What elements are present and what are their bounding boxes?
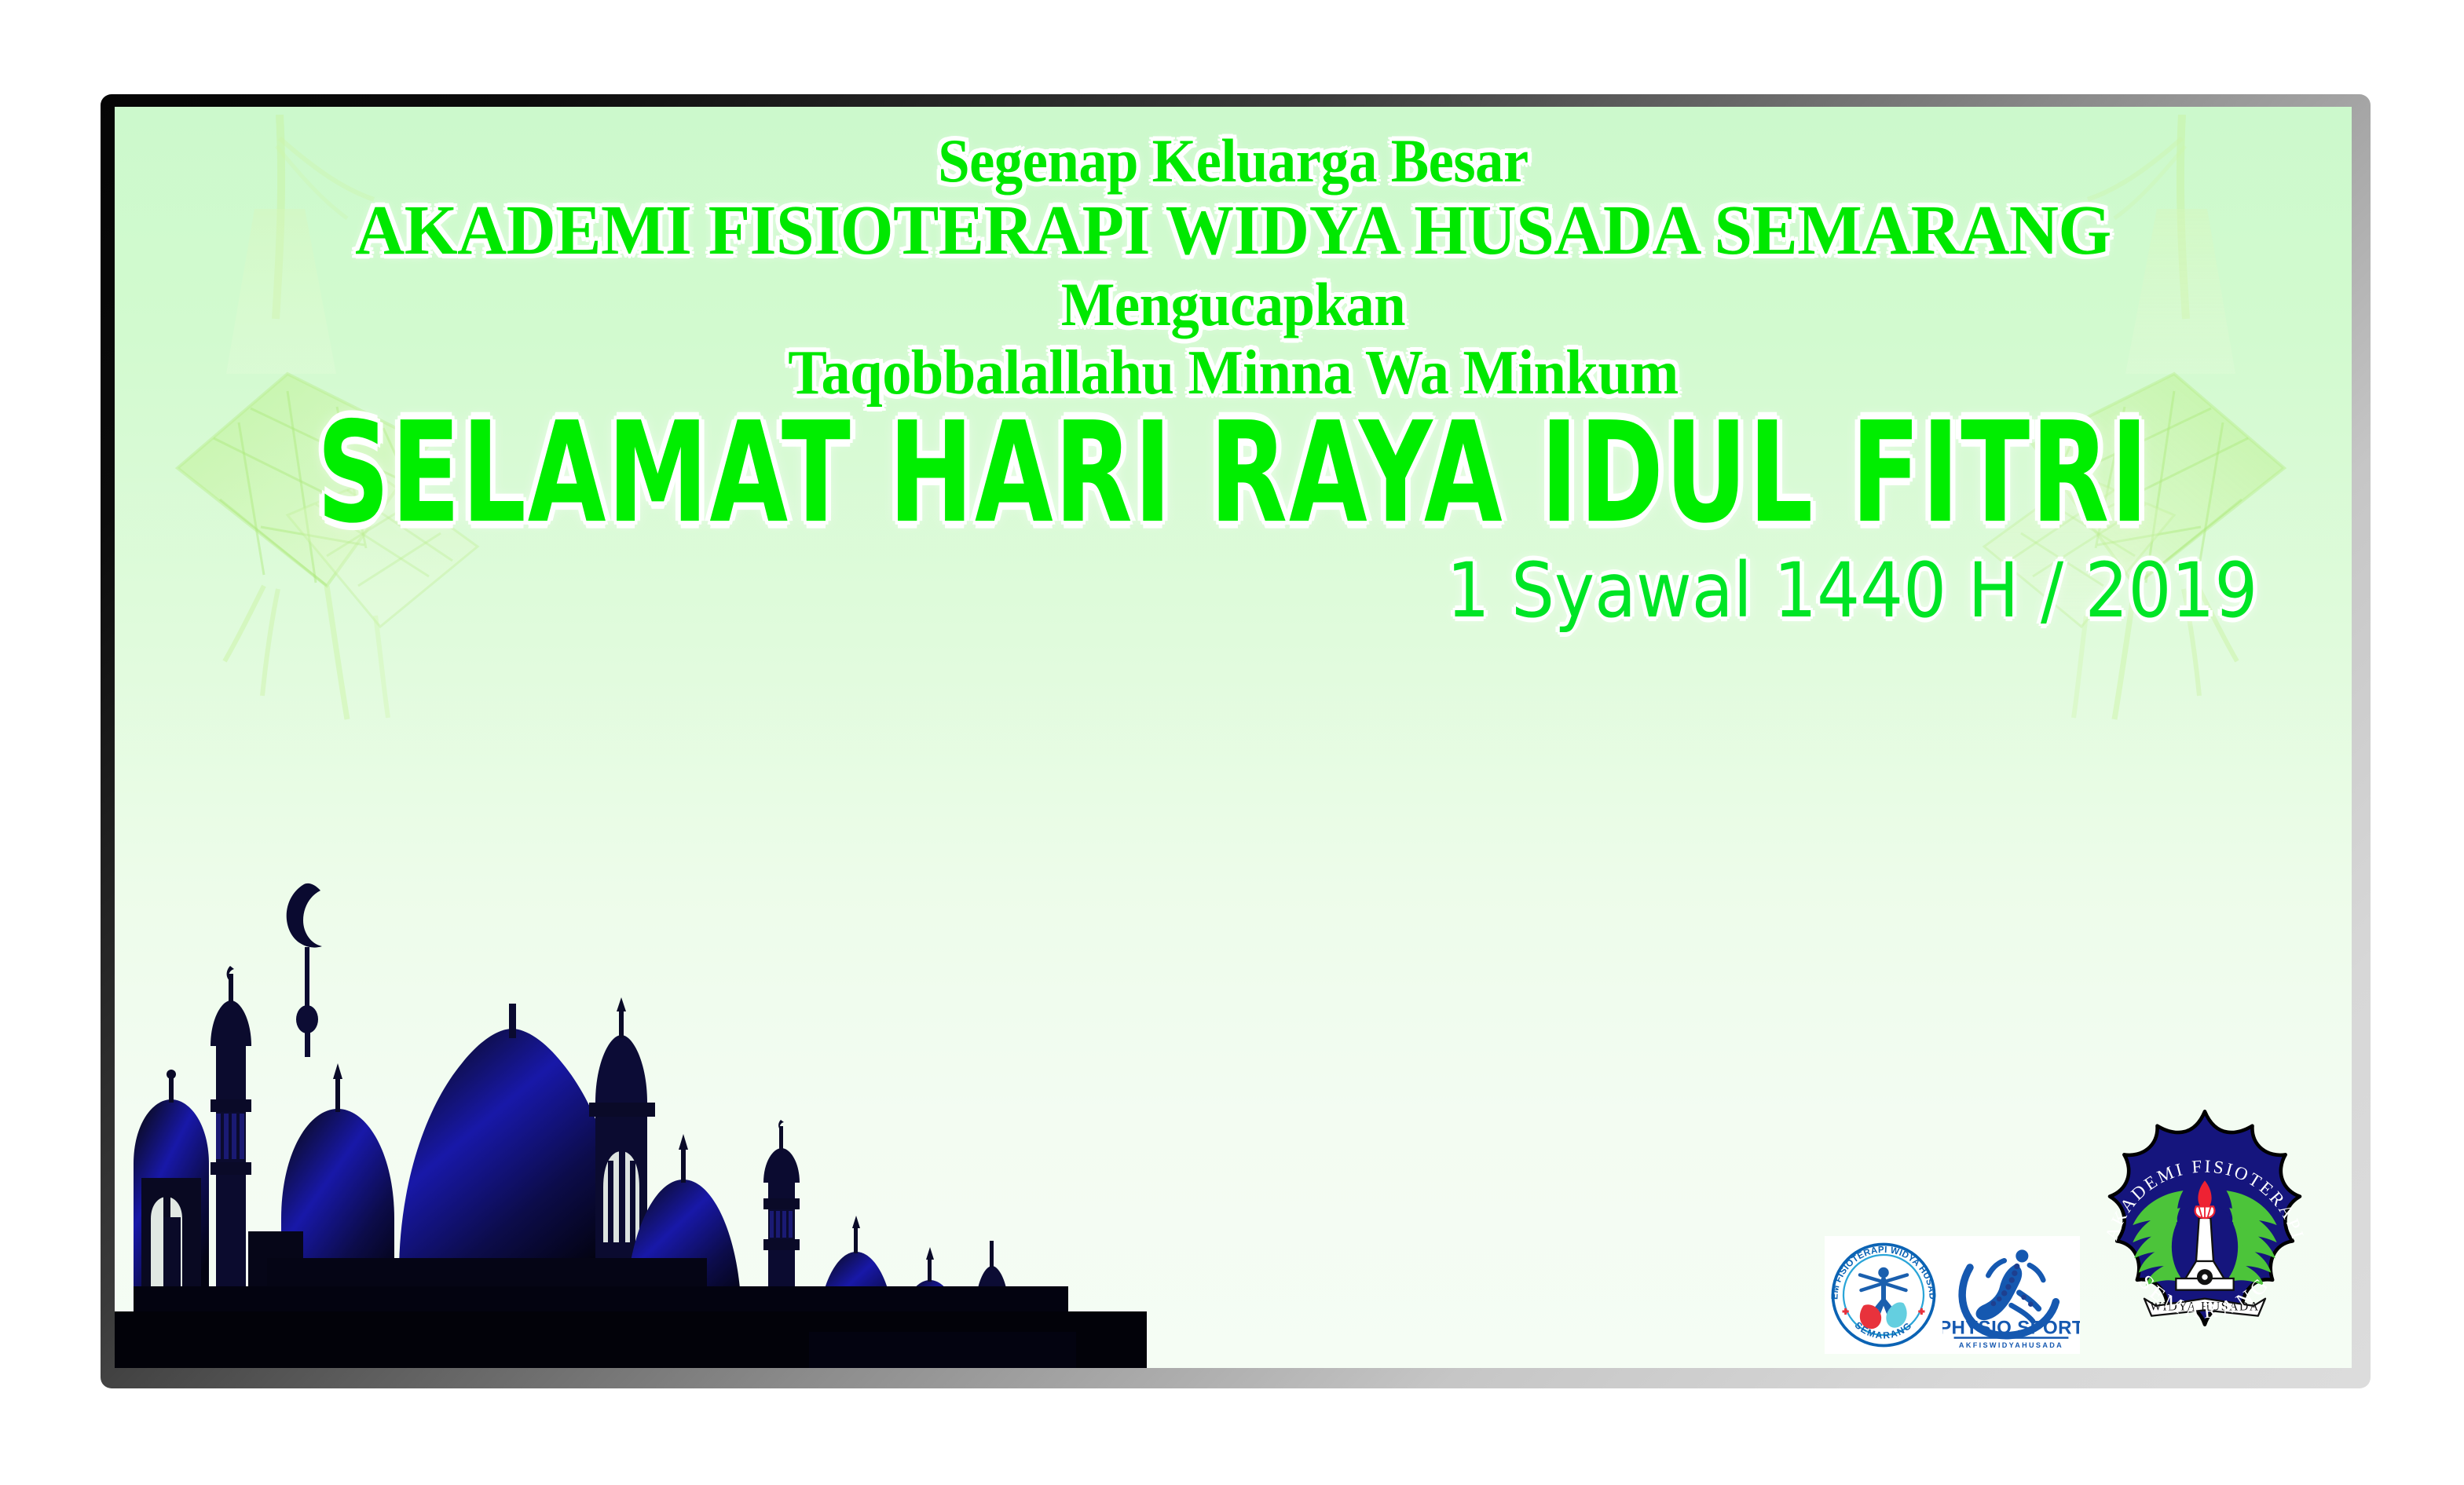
- physio-sport-logo: PHYSIO SPORT AKFISWIDYAHUSADA: [1942, 1236, 2080, 1354]
- headline-text: SELAMAT HARI RAYA IDUL FITRI: [271, 404, 2195, 543]
- hijri-date-text: 1 Syawal 1440 H / 2019: [1446, 547, 2257, 635]
- banner-frame: Segenap Keluarga Besar AKADEMI FISIOTERA…: [101, 94, 2371, 1388]
- akademi-fisioterapi-widya-husada-logo: AKADEMI FISIOTERAPI: [2075, 1106, 2334, 1365]
- salutation-line: Segenap Keluarga Besar: [193, 129, 2274, 192]
- partner-logo-strip: BEM FISIOTERAPI WIDYA HUSADA SEMARANG: [1825, 1236, 2080, 1354]
- mosque-silhouette-icon: [115, 850, 1147, 1368]
- physio-sport-subtitle: AKFISWIDYAHUSADA: [1959, 1341, 2063, 1349]
- institution-line: AKADEMI FISIOTERAPI WIDYA HUSADA SEMARAN…: [148, 194, 2319, 268]
- greeting-text-block: Segenap Keluarga Besar AKADEMI FISIOTERA…: [115, 129, 2352, 406]
- verb-line: Mengucapkan: [193, 272, 2274, 336]
- logo-cluster: BEM FISIOTERAPI WIDYA HUSADA SEMARANG: [1825, 1106, 2334, 1365]
- physio-sport-title: PHYSIO SPORT: [1942, 1318, 2080, 1339]
- bem-fisioterapi-logo: BEM FISIOTERAPI WIDYA HUSADA SEMARANG: [1825, 1236, 1942, 1354]
- banner-canvas: Segenap Keluarga Besar AKADEMI FISIOTERA…: [115, 107, 2352, 1368]
